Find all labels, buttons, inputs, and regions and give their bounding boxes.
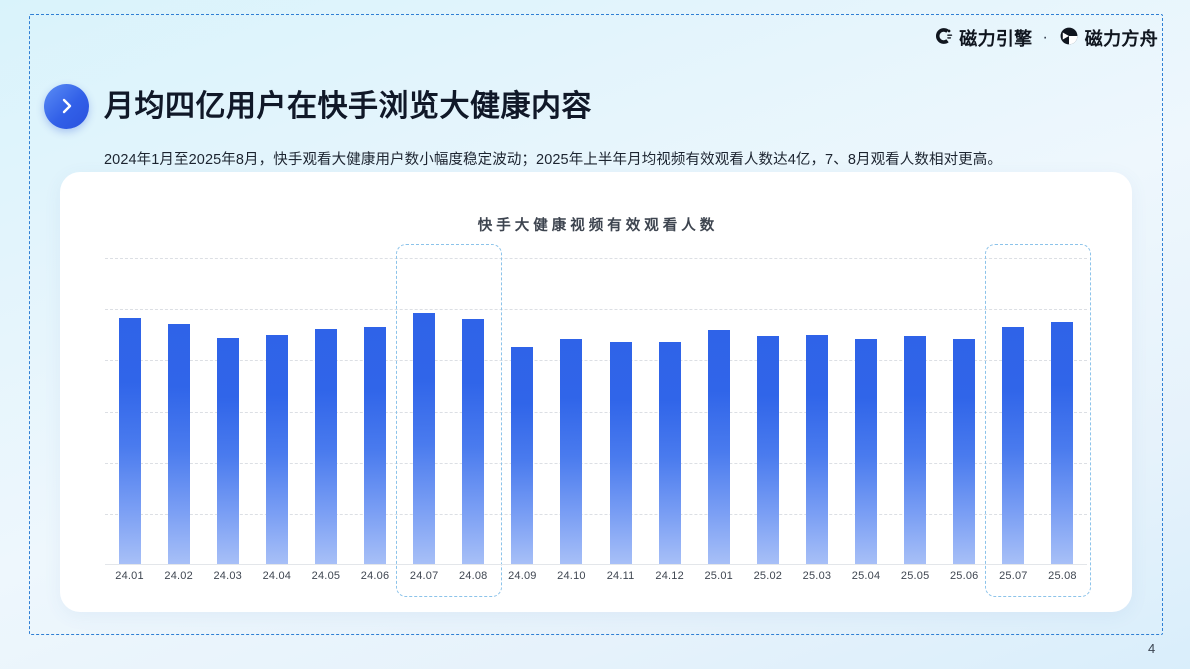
brand-primary-label: 磁力引擎: [959, 25, 1032, 51]
bar: [462, 319, 484, 565]
bar-slot: 24.01: [105, 258, 154, 565]
x-axis-label: 24.04: [263, 570, 292, 582]
bar-slot: 25.07: [989, 258, 1038, 565]
bar-slot: 25.02: [743, 258, 792, 565]
chart-plot-area: 24.0124.0224.0324.0424.0524.0624.0724.08…: [105, 258, 1087, 565]
bar-slot: 24.10: [547, 258, 596, 565]
brand-primary: 磁力引擎: [932, 25, 1032, 52]
bar: [511, 347, 533, 565]
bar: [217, 338, 239, 565]
bar-slot: 25.06: [940, 258, 989, 565]
x-axis-label: 24.05: [312, 570, 341, 582]
bar: [1002, 327, 1024, 565]
chevron-right-icon: [44, 84, 89, 129]
x-axis-label: 24.07: [410, 570, 439, 582]
bar-slot: 25.08: [1038, 258, 1087, 565]
bar-slot: 24.04: [252, 258, 301, 565]
bar-slot: 25.01: [694, 258, 743, 565]
bar: [266, 335, 288, 565]
x-axis-label: 24.12: [655, 570, 684, 582]
bar: [413, 313, 435, 565]
chart-card: 快手大健康视频有效观看人数 24.0124.0224.0324.0424.052…: [60, 172, 1132, 612]
bar: [560, 339, 582, 565]
bar-slot: 24.08: [449, 258, 498, 565]
bar-slot: 24.06: [351, 258, 400, 565]
x-axis-label: 24.01: [115, 570, 144, 582]
chart-bars: 24.0124.0224.0324.0424.0524.0624.0724.08…: [105, 258, 1087, 565]
x-axis-label: 25.05: [901, 570, 930, 582]
bar: [168, 324, 190, 565]
page-number: 4: [1148, 641, 1155, 656]
brand-separator: ·: [1040, 29, 1049, 47]
bar-slot: 24.02: [154, 258, 203, 565]
x-axis-label: 25.03: [803, 570, 832, 582]
x-axis-label: 25.02: [754, 570, 783, 582]
x-axis-label: 24.02: [164, 570, 193, 582]
brand-lockup: 磁力引擎 · 磁力方舟: [932, 25, 1158, 51]
ciliyinqing-logo-icon: [932, 25, 954, 52]
x-axis-label: 24.03: [213, 570, 242, 582]
bar: [757, 336, 779, 565]
bar: [855, 339, 877, 565]
page-subtitle: 2024年1月至2025年8月，快手观看大健康用户数小幅度稳定波动；2025年上…: [104, 148, 1002, 169]
x-axis-label: 25.07: [999, 570, 1028, 582]
x-axis-label: 25.01: [704, 570, 733, 582]
x-axis-label: 24.08: [459, 570, 488, 582]
x-axis-label: 25.06: [950, 570, 979, 582]
bar-slot: 24.09: [498, 258, 547, 565]
chart-x-axis: [105, 564, 1087, 565]
bar: [610, 342, 632, 565]
bar: [708, 330, 730, 565]
brand-secondary: 磁力方舟: [1058, 25, 1158, 52]
ciliifangzhou-logo-icon: [1058, 25, 1080, 52]
bar: [364, 327, 386, 565]
bar: [119, 318, 141, 565]
x-axis-label: 25.04: [852, 570, 881, 582]
bar-slot: 25.03: [792, 258, 841, 565]
bar-slot: 24.03: [203, 258, 252, 565]
x-axis-label: 24.06: [361, 570, 390, 582]
x-axis-label: 24.10: [557, 570, 586, 582]
x-axis-label: 24.09: [508, 570, 537, 582]
page-title: 月均四亿用户在快手浏览大健康内容: [104, 84, 592, 129]
brand-secondary-label: 磁力方舟: [1085, 25, 1158, 51]
bar: [904, 336, 926, 565]
bar: [659, 342, 681, 565]
bar-slot: 24.05: [301, 258, 350, 565]
x-axis-label: 25.08: [1048, 570, 1077, 582]
bar-slot: 24.07: [400, 258, 449, 565]
bar: [315, 329, 337, 565]
bar: [1051, 322, 1073, 565]
bar-slot: 24.12: [645, 258, 694, 565]
bar-slot: 25.05: [891, 258, 940, 565]
bar-slot: 24.11: [596, 258, 645, 565]
bar-slot: 25.04: [842, 258, 891, 565]
x-axis-label: 24.11: [607, 570, 635, 582]
bar: [953, 339, 975, 565]
bar: [806, 335, 828, 565]
chart-title: 快手大健康视频有效观看人数: [60, 214, 1132, 235]
